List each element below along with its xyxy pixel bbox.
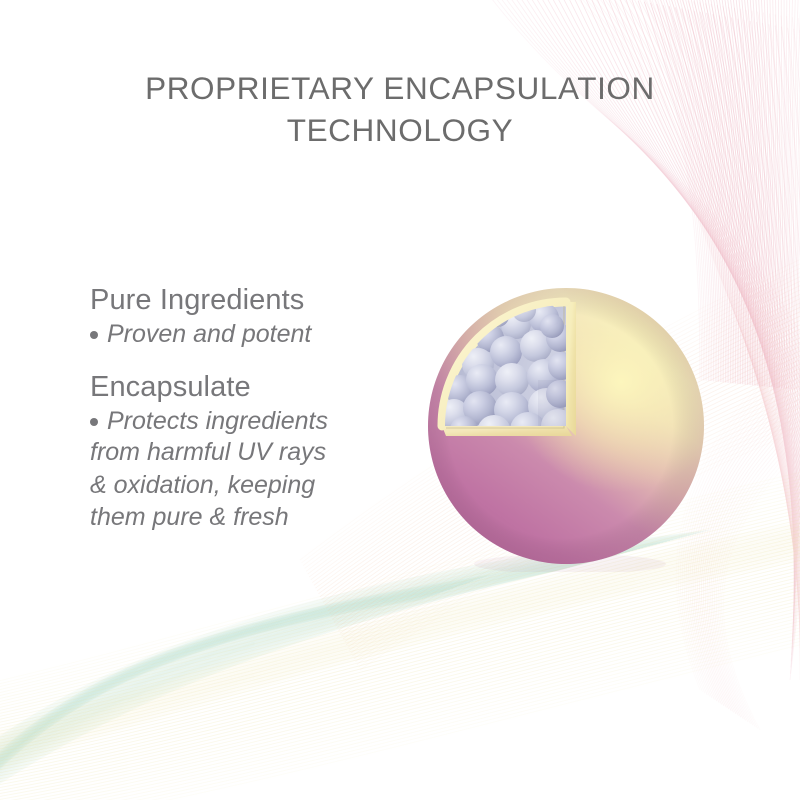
benefit-bullet-row: Protects ingredients	[90, 406, 402, 437]
benefit-bullet-continuation: from harmful UV rays & oxidation, keepin…	[90, 436, 402, 534]
bullet-dot-icon	[90, 418, 98, 426]
poster-canvas: PROPRIETARY ENCAPSULATION TECHNOLOGY Pur…	[0, 0, 800, 800]
benefit-heading: Pure Ingredients	[90, 283, 402, 317]
benefit-bullet-text: Proven and potent	[107, 319, 311, 350]
benefit-heading: Encapsulate	[90, 370, 402, 404]
benefits-copy-block: Pure Ingredients Proven and potent Encap…	[90, 283, 402, 534]
benefit-group-pure-ingredients: Pure Ingredients Proven and potent	[90, 283, 402, 350]
benefit-bullet-row: Proven and potent	[90, 319, 402, 350]
page-title: PROPRIETARY ENCAPSULATION TECHNOLOGY	[60, 68, 740, 151]
cutaway-capsule-sphere-graphic	[420, 280, 712, 572]
benefit-group-encapsulate: Encapsulate Protects ingredients from ha…	[90, 370, 402, 534]
benefit-bullet-text: Protects ingredients	[107, 406, 328, 437]
bullet-dot-icon	[90, 331, 98, 339]
